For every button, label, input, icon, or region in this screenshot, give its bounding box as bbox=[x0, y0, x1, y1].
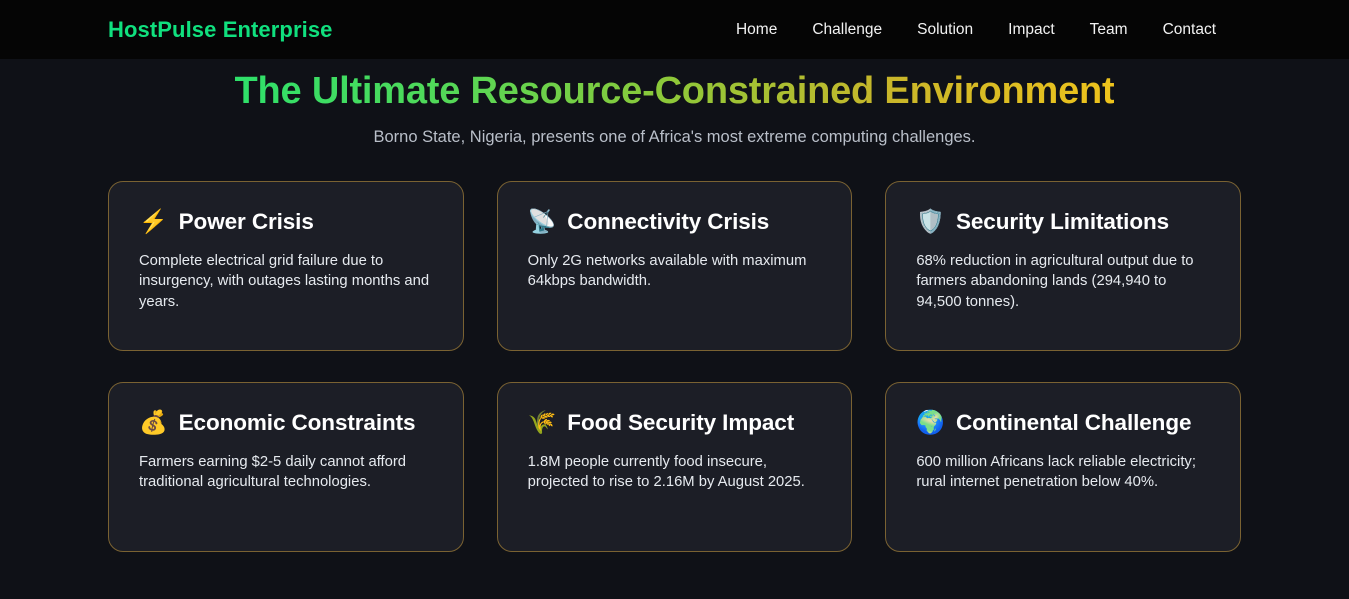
top-navbar: HostPulse Enterprise Home Challenge Solu… bbox=[0, 0, 1349, 59]
card-title: Economic Constraints bbox=[179, 409, 416, 437]
card-description: 68% reduction in agricultural output due… bbox=[916, 251, 1210, 312]
nav-link-solution[interactable]: Solution bbox=[917, 21, 973, 39]
card-description: Complete electrical grid failure due to … bbox=[139, 251, 433, 312]
globe-africa-icon: 🌍 bbox=[916, 409, 945, 435]
nav-links: Home Challenge Solution Impact Team Cont… bbox=[736, 21, 1216, 39]
card-header: 💰 Economic Constraints bbox=[139, 409, 433, 437]
sheaf-of-rice-icon: 🌾 bbox=[528, 409, 557, 435]
nav-link-contact[interactable]: Contact bbox=[1163, 21, 1216, 39]
card-header: 🛡️ Security Limitations bbox=[916, 208, 1210, 236]
card-description: 600 million Africans lack reliable elect… bbox=[916, 452, 1210, 493]
nav-link-impact[interactable]: Impact bbox=[1008, 21, 1055, 39]
page-title: The Ultimate Resource-Constrained Enviro… bbox=[235, 68, 1115, 116]
page-subtitle: Borno State, Nigeria, presents one of Af… bbox=[0, 128, 1349, 147]
card-title: Security Limitations bbox=[956, 208, 1169, 236]
card-header: 🌾 Food Security Impact bbox=[528, 409, 822, 437]
card-description: Farmers earning $2-5 daily cannot afford… bbox=[139, 452, 433, 493]
high-voltage-icon: ⚡ bbox=[139, 208, 168, 234]
card-title: Food Security Impact bbox=[567, 409, 794, 437]
card-header: ⚡ Power Crisis bbox=[139, 208, 433, 236]
challenge-card-food-security-impact[interactable]: 🌾 Food Security Impact 1.8M people curre… bbox=[497, 382, 853, 552]
nav-link-home[interactable]: Home bbox=[736, 21, 777, 39]
nav-link-team[interactable]: Team bbox=[1090, 21, 1128, 39]
card-title: Continental Challenge bbox=[956, 409, 1191, 437]
brand-logo[interactable]: HostPulse Enterprise bbox=[108, 17, 333, 43]
card-description: 1.8M people currently food insecure, pro… bbox=[528, 452, 822, 493]
challenge-card-power-crisis[interactable]: ⚡ Power Crisis Complete electrical grid … bbox=[108, 181, 464, 351]
challenge-card-connectivity-crisis[interactable]: 📡 Connectivity Crisis Only 2G networks a… bbox=[497, 181, 853, 351]
challenge-card-economic-constraints[interactable]: 💰 Economic Constraints Farmers earning $… bbox=[108, 382, 464, 552]
satellite-antenna-icon: 📡 bbox=[528, 208, 557, 234]
card-header: 📡 Connectivity Crisis bbox=[528, 208, 822, 236]
challenge-card-continental-challenge[interactable]: 🌍 Continental Challenge 600 million Afri… bbox=[885, 382, 1241, 552]
nav-link-challenge[interactable]: Challenge bbox=[812, 21, 882, 39]
card-description: Only 2G networks available with maximum … bbox=[528, 251, 822, 292]
card-header: 🌍 Continental Challenge bbox=[916, 409, 1210, 437]
challenge-card-security-limitations[interactable]: 🛡️ Security Limitations 68% reduction in… bbox=[885, 181, 1241, 351]
challenge-card-grid: ⚡ Power Crisis Complete electrical grid … bbox=[0, 181, 1349, 552]
hero-section: The Ultimate Resource-Constrained Enviro… bbox=[0, 59, 1349, 147]
card-title: Power Crisis bbox=[179, 208, 314, 236]
money-bag-icon: 💰 bbox=[139, 409, 168, 435]
shield-icon: 🛡️ bbox=[916, 208, 945, 234]
card-title: Connectivity Crisis bbox=[567, 208, 769, 236]
